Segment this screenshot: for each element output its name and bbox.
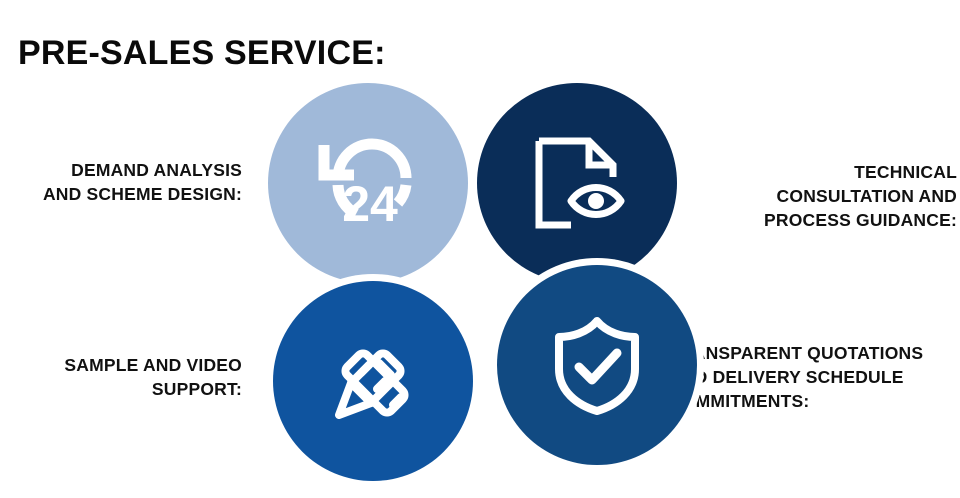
label-technical-consultation: TECHNICAL CONSULTATION AND PROCESS GUIDA… <box>727 161 957 232</box>
circle-technical-consultation[interactable] <box>477 83 677 283</box>
circle-sample-video-support[interactable] <box>273 281 473 481</box>
label-sample-video-support: SAMPLE AND VIDEO SUPPORT: <box>0 354 242 402</box>
circle-transparent-quotations[interactable] <box>497 265 697 465</box>
pre-sales-service-infographic: PRE-SALES SERVICE: 24 <box>0 0 960 498</box>
24-hour-rotate-arrow-icon: 24 <box>316 133 420 233</box>
svg-text:24: 24 <box>342 176 398 232</box>
circle-demand-analysis[interactable]: 24 <box>268 83 468 283</box>
document-eye-icon <box>527 133 627 233</box>
label-demand-analysis: DEMAND ANALYSIS AND SCHEME DESIGN: <box>0 159 242 207</box>
label-transparent-quotations: TRANSPARENT QUOTATIONS AND DELIVERY SCHE… <box>669 342 960 413</box>
circle-cluster: 24 <box>265 83 665 483</box>
shield-check-icon <box>549 315 645 415</box>
pencil-ruler-icon <box>321 329 425 433</box>
page-title: PRE-SALES SERVICE: <box>18 35 386 72</box>
